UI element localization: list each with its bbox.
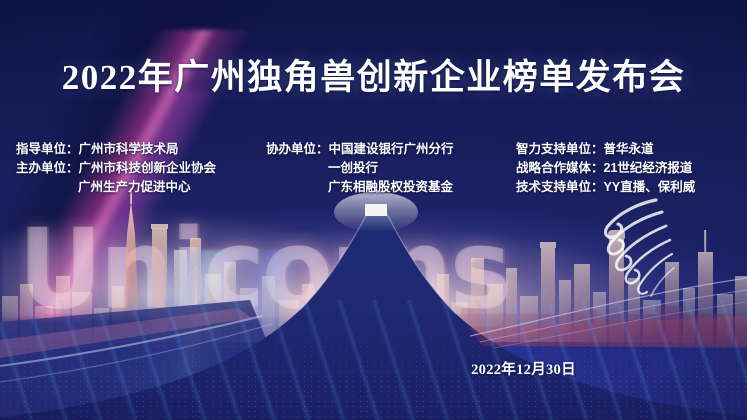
credit-value: 广州生产力促进中心 [78, 178, 191, 197]
credit-row: 智力支持单位： 普华永道 [516, 140, 747, 159]
credit-label: 战略合作媒体： [516, 159, 604, 178]
credits-block: 指导单位： 广州市科学技术局 主办单位： 广州市科技创新企业协会 广州生产力促进… [0, 140, 747, 197]
credits-column-middle: 协办单位： 中国建设银行广州分行 一创投行 广东相融股权投资基金 [266, 140, 516, 197]
credit-value: 普华永道 [604, 140, 654, 159]
credit-row: 指导单位： 广州市科学技术局 [16, 140, 266, 159]
credit-row: 一创投行 [266, 159, 516, 178]
credit-row: 主办单位： 广州市科技创新企业协会 [16, 159, 266, 178]
credit-label: 智力支持单位： [516, 140, 604, 159]
credit-row: 广州生产力促进中心 [16, 178, 266, 197]
credit-value: 中国建设银行广州分行 [329, 140, 454, 159]
poster-root: Unicorns Unicorns [0, 0, 747, 420]
credit-value: 广东相融股权投资基金 [328, 178, 453, 197]
credit-label: 协办单位： [266, 140, 329, 159]
credits-column-left: 指导单位： 广州市科学技术局 主办单位： 广州市科技创新企业协会 广州生产力促进… [16, 140, 266, 197]
credit-indent-spacer [16, 178, 78, 197]
page-title: 2022年广州独角兽创新企业榜单发布会 [0, 49, 747, 100]
event-date-wrapper: 2022年12月30日 [0, 358, 747, 379]
credit-value: 广州市科学技术局 [79, 140, 179, 159]
credit-row: 战略合作媒体： 21世纪经济报道 [516, 159, 747, 178]
credit-label: 技术支持单位： [516, 178, 604, 197]
credit-row: 广东相融股权投资基金 [266, 178, 516, 197]
credit-label: 主办单位： [16, 159, 79, 178]
credit-row: 技术支持单位： YY直播、保利威 [516, 178, 747, 197]
poster-content: 2022年广州独角兽创新企业榜单发布会 指导单位： 广州市科学技术局 主办单位：… [0, 0, 747, 420]
credit-value: 一创投行 [328, 159, 378, 178]
credit-row: 协办单位： 中国建设银行广州分行 [266, 140, 516, 159]
credit-indent-spacer [266, 178, 328, 197]
credit-indent-spacer [266, 159, 328, 178]
event-date: 2022年12月30日 [471, 362, 576, 378]
credits-column-right: 智力支持单位： 普华永道 战略合作媒体： 21世纪经济报道 技术支持单位： YY… [516, 140, 747, 197]
credit-label: 指导单位： [16, 140, 79, 159]
credit-value: YY直播、保利威 [604, 178, 696, 197]
credit-value: 21世纪经济报道 [604, 159, 693, 178]
credit-value: 广州市科技创新企业协会 [79, 159, 217, 178]
